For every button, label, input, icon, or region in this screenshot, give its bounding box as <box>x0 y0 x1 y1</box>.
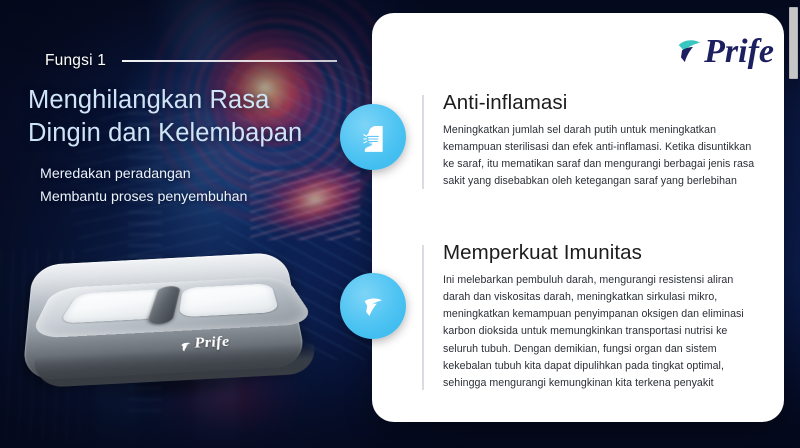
kicker-label: Fungsi 1 <box>45 52 106 70</box>
section-title: Anti-inflamasi <box>443 91 760 115</box>
benefit-item-1: Meredakan peradangan <box>40 163 370 186</box>
section-accent-rule <box>422 245 424 390</box>
vertical-scrollbar[interactable] <box>786 0 800 448</box>
card-section-memperkuat-imunitas: Memperkuat Imunitas Ini melebarkan pembu… <box>422 241 760 392</box>
page-title: Menghilangkan Rasa Dingin dan Kelembapan <box>28 84 368 150</box>
card-section-anti-inflamasi: Anti-inflamasi Meningkatkan jumlah sel d… <box>422 91 760 191</box>
brand-logo: Prife <box>676 33 774 71</box>
headline-line-2: Dingin dan Kelembapan <box>28 117 368 150</box>
device-body: Prife <box>22 252 308 381</box>
kicker-row: Fungsi 1 <box>45 52 345 70</box>
benefit-list: Meredakan peradangan Membantu proses pen… <box>40 163 370 209</box>
prife-leaf-mark-icon <box>180 339 192 350</box>
device-brand-logo: Prife <box>179 334 230 353</box>
brand-name: Prife <box>704 33 774 71</box>
device-top-surface <box>28 276 317 339</box>
leaf-wing-icon <box>359 292 387 320</box>
benefit-item-2: Membantu proses penyembuhan <box>40 186 370 209</box>
headline-line-1: Menghilangkan Rasa <box>28 86 269 114</box>
section-body: Ini melebarkan pembuluh darah, mengurang… <box>443 272 760 393</box>
device-brand-name: Prife <box>194 334 231 353</box>
slide-root: Fungsi 1 Menghilangkan Rasa Dingin dan K… <box>0 0 800 448</box>
section-badge-anti-inflamasi <box>340 104 406 170</box>
face-mask-icon <box>358 122 388 152</box>
device-right-foot-pad <box>178 283 279 317</box>
prife-leaf-mark-icon <box>676 37 702 63</box>
section-accent-rule <box>422 95 424 189</box>
content-card: Prife Anti-inflamasi Meningkatkan jumlah… <box>372 13 784 422</box>
scrollbar-thumb[interactable] <box>789 7 798 79</box>
section-body: Meningkatkan jumlah sel darah putih untu… <box>443 122 760 191</box>
left-content-column: Fungsi 1 Menghilangkan Rasa Dingin dan K… <box>0 0 372 448</box>
section-title: Memperkuat Imunitas <box>443 241 760 265</box>
section-badge-memperkuat-imunitas <box>340 273 406 339</box>
kicker-divider-rule <box>122 60 337 62</box>
product-device-image: Prife <box>13 220 322 420</box>
